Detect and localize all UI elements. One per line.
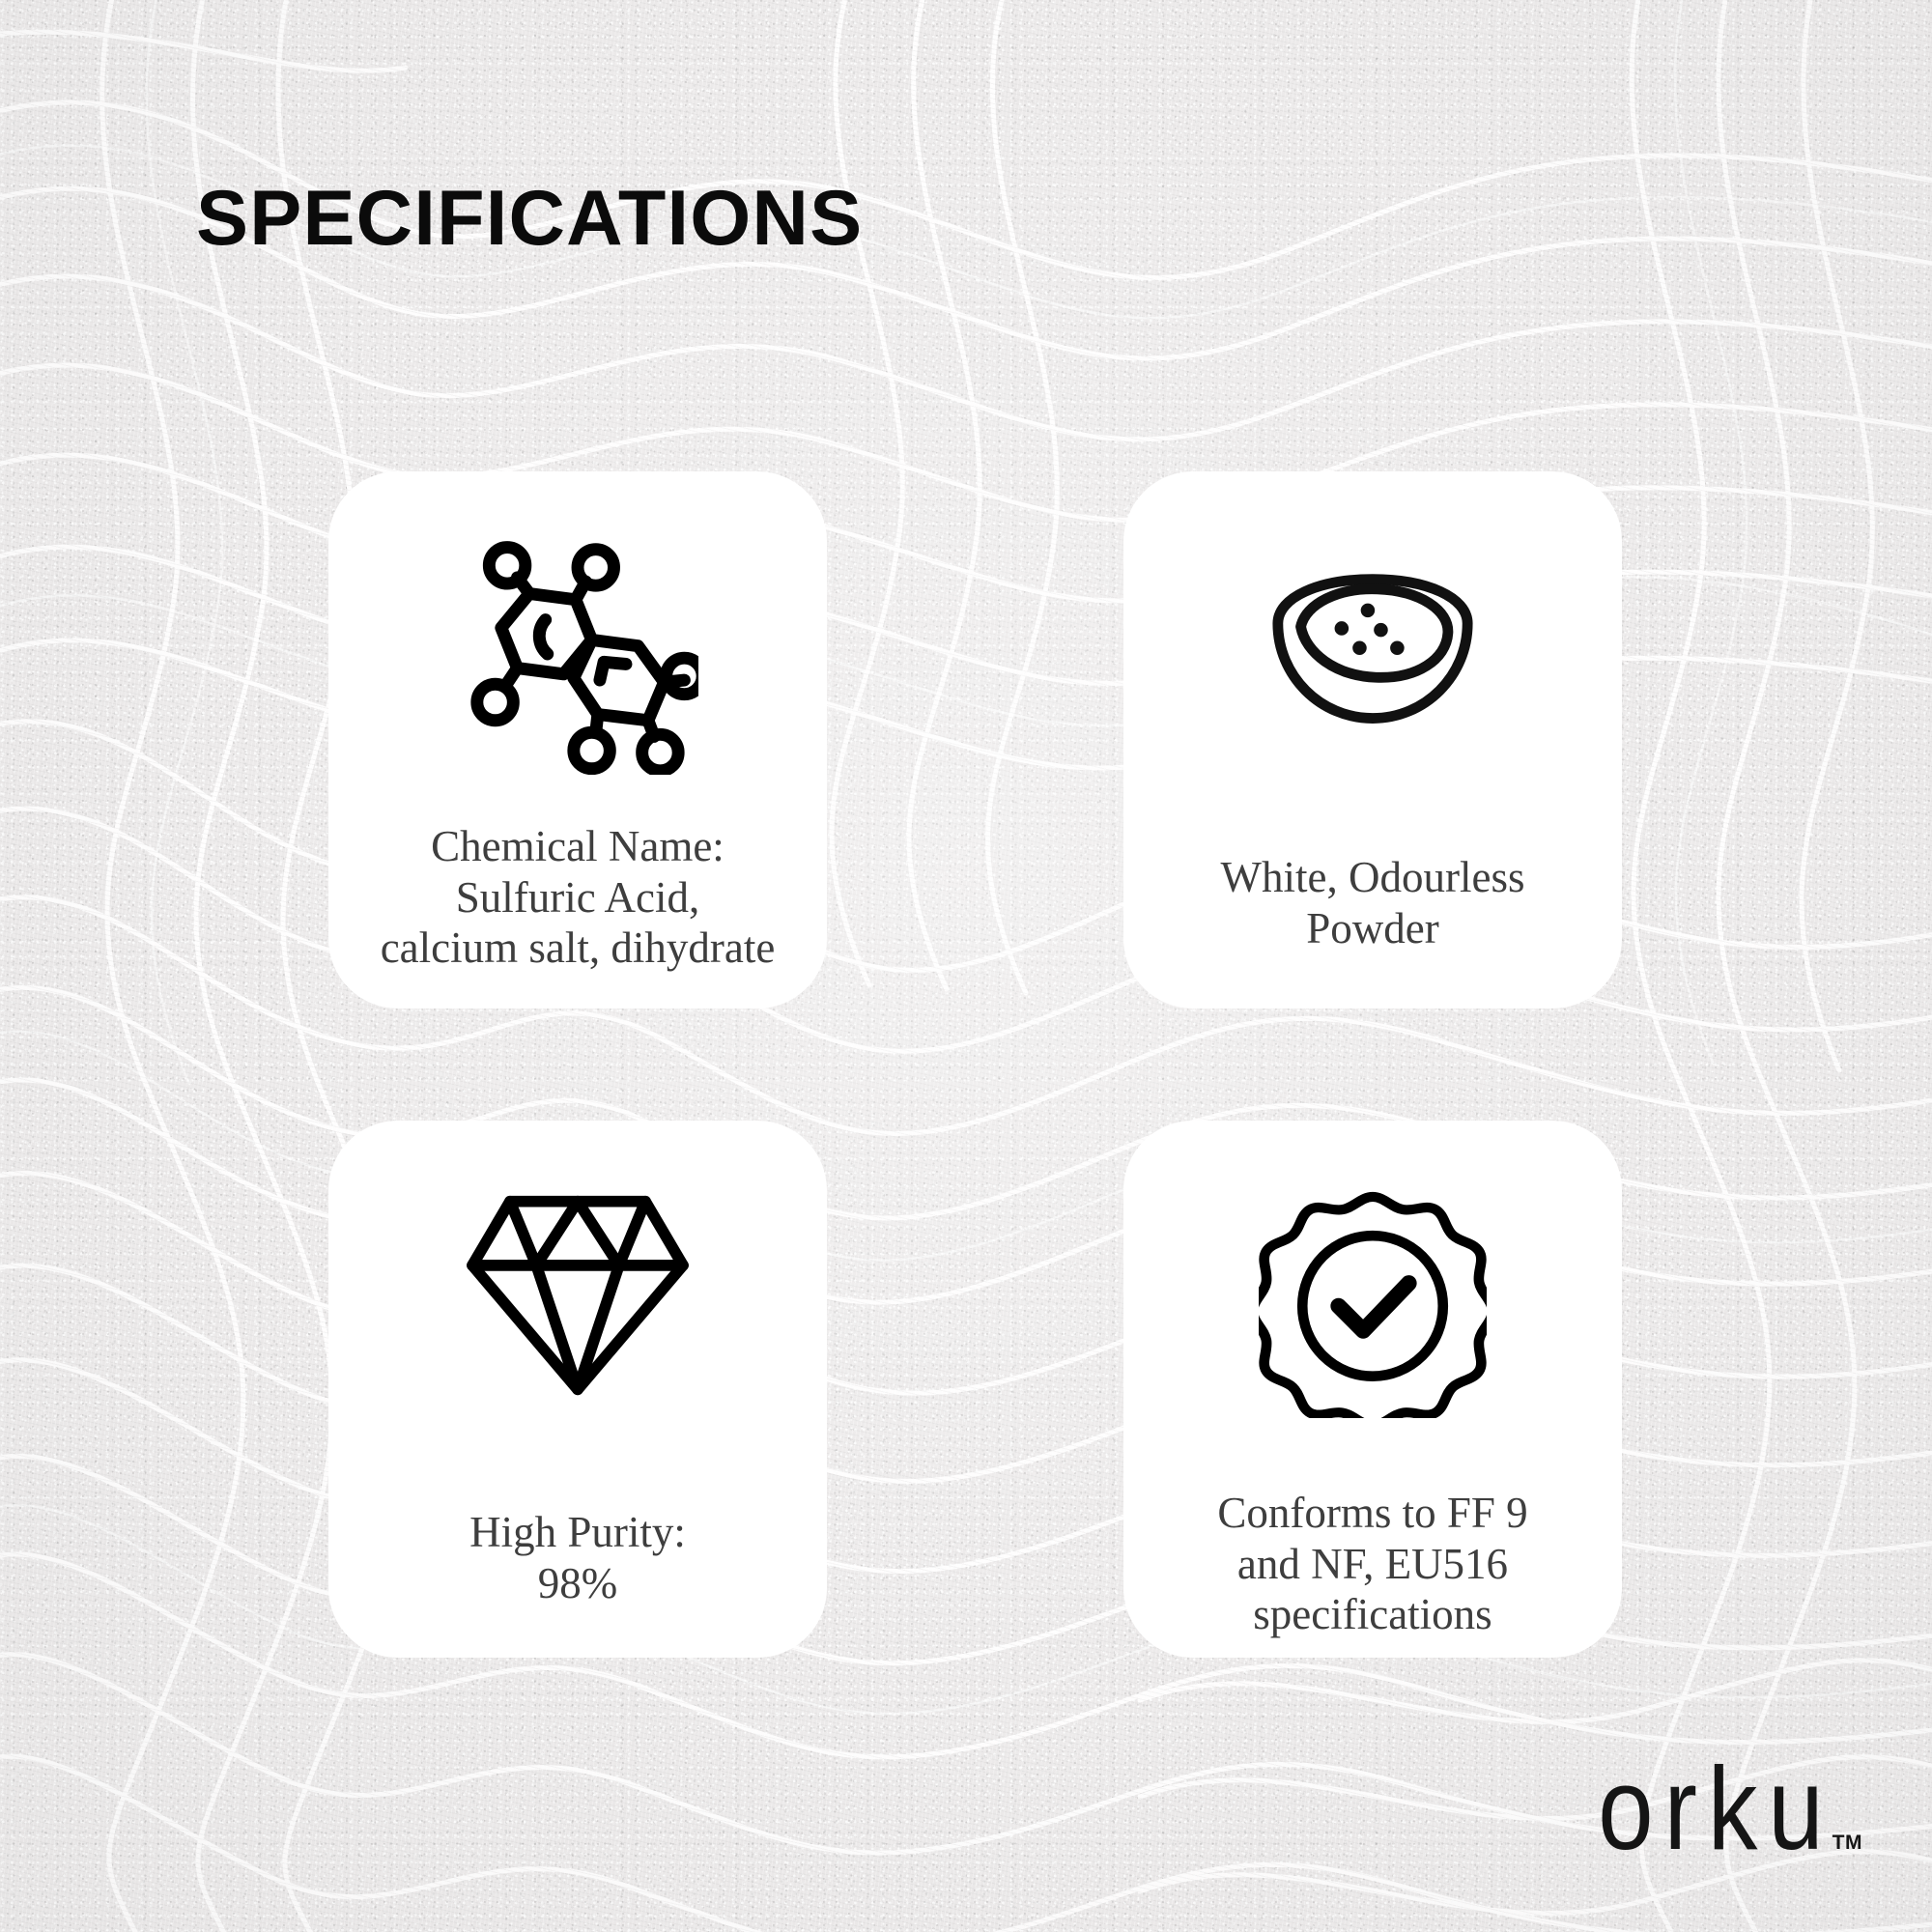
diamond-icon — [461, 1190, 695, 1401]
spec-card-purity: High Purity: 98% — [328, 1121, 827, 1658]
specifications-infographic: SPECIFICATIONS — [0, 0, 1932, 1932]
powder-bowl-icon — [1266, 554, 1479, 728]
spec-card-label: White, Odourless Powder — [1123, 852, 1622, 953]
spec-card-label: High Purity: 98% — [328, 1507, 827, 1608]
spec-card-label: Chemical Name: Sulfuric Acid, calcium sa… — [328, 821, 827, 974]
spec-card-chemical-name: Chemical Name: Sulfuric Acid, calcium sa… — [328, 471, 827, 1009]
brand-logo: orku TM — [1598, 1773, 1862, 1862]
certification-badge-icon — [1259, 1190, 1487, 1418]
brand-wordmark: orku — [1598, 1757, 1833, 1862]
molecule-icon — [457, 533, 698, 775]
background-vignette — [0, 0, 1932, 1932]
trademark-symbol: TM — [1833, 1832, 1862, 1855]
page-title: SPECIFICATIONS — [196, 180, 863, 258]
spec-card-appearance: White, Odourless Powder — [1123, 471, 1622, 1009]
spec-card-conformance: Conforms to FF 9 and NF, EU516 specifica… — [1123, 1121, 1622, 1658]
spec-card-label: Conforms to FF 9 and NF, EU516 specifica… — [1123, 1488, 1622, 1640]
